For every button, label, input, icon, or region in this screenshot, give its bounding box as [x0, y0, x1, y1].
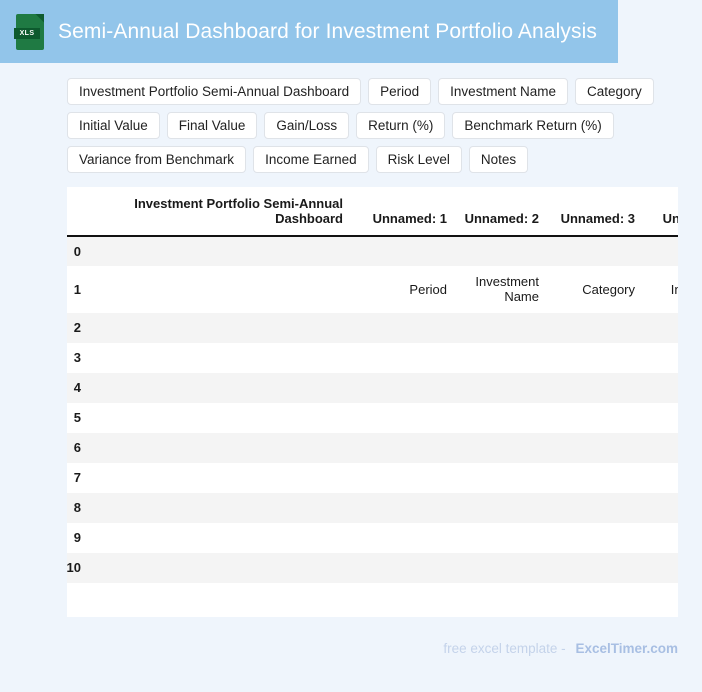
cell-unnamed-1 — [351, 553, 455, 583]
column-chip-list: Investment Portfolio Semi-Annual Dashboa… — [67, 78, 681, 180]
cell-unnamed-3 — [547, 493, 643, 523]
cell-unnamed-1 — [351, 313, 455, 343]
cell-unnamed-4 — [643, 373, 678, 403]
xls-file-icon: XLS — [16, 14, 44, 50]
row-index: 0 — [67, 236, 89, 266]
chip-row-3: Variance from Benchmark Income Earned Ri… — [67, 146, 681, 173]
cell-dashboard — [89, 523, 351, 553]
cell-unnamed-2 — [455, 343, 547, 373]
dataframe-table: Investment Portfolio Semi-Annual Dashboa… — [67, 187, 678, 583]
cell-unnamed-3 — [547, 343, 643, 373]
cell-unnamed-2 — [455, 313, 547, 343]
cell-dashboard — [89, 493, 351, 523]
cell-unnamed-2: Investment Name — [455, 266, 547, 313]
cell-unnamed-2 — [455, 493, 547, 523]
cell-unnamed-4 — [643, 493, 678, 523]
chip-risk-level[interactable]: Risk Level — [376, 146, 462, 173]
chip-variance-from-benchmark[interactable]: Variance from Benchmark — [67, 146, 246, 173]
chip-return-percent[interactable]: Return (%) — [356, 112, 445, 139]
table-row[interactable]: 5 — [67, 403, 678, 433]
chip-period[interactable]: Period — [368, 78, 431, 105]
chip-income-earned[interactable]: Income Earned — [253, 146, 369, 173]
row-index: 2 — [67, 313, 89, 343]
footer-attribution: free excel template - ExcelTimer.com — [443, 641, 678, 656]
cell-unnamed-4 — [643, 463, 678, 493]
column-header-index[interactable] — [67, 187, 89, 236]
column-header-unnamed-2[interactable]: Unnamed: 2 — [455, 187, 547, 236]
cell-dashboard — [89, 236, 351, 266]
footer-brand-link[interactable]: ExcelTimer.com — [575, 641, 678, 656]
table-row[interactable]: 9 — [67, 523, 678, 553]
table-body: 0 1 Period Investment Name Category Init… — [67, 236, 678, 583]
cell-unnamed-3 — [547, 463, 643, 493]
table-row[interactable]: 1 Period Investment Name Category Initia… — [67, 266, 678, 313]
cell-unnamed-3 — [547, 523, 643, 553]
table-row[interactable]: 0 — [67, 236, 678, 266]
row-index: 6 — [67, 433, 89, 463]
cell-unnamed-1: Period — [351, 266, 455, 313]
table-row[interactable]: 4 — [67, 373, 678, 403]
cell-unnamed-1 — [351, 343, 455, 373]
dataframe-table-container[interactable]: Investment Portfolio Semi-Annual Dashboa… — [67, 187, 678, 617]
chip-final-value[interactable]: Final Value — [167, 112, 258, 139]
chip-row-2: Initial Value Final Value Gain/Loss Retu… — [67, 112, 681, 139]
cell-unnamed-3 — [547, 373, 643, 403]
cell-dashboard — [89, 553, 351, 583]
chip-benchmark-return-percent[interactable]: Benchmark Return (%) — [452, 112, 613, 139]
table-row[interactable]: 7 — [67, 463, 678, 493]
cell-unnamed-4 — [643, 433, 678, 463]
table-row[interactable]: 6 — [67, 433, 678, 463]
chip-investment-name[interactable]: Investment Name — [438, 78, 568, 105]
cell-dashboard — [89, 313, 351, 343]
cell-unnamed-1 — [351, 523, 455, 553]
cell-unnamed-4 — [643, 553, 678, 583]
column-header-dashboard[interactable]: Investment Portfolio Semi-Annual Dashboa… — [89, 187, 351, 236]
cell-unnamed-4 — [643, 523, 678, 553]
cell-unnamed-3 — [547, 236, 643, 266]
chip-category[interactable]: Category — [575, 78, 654, 105]
row-index: 7 — [67, 463, 89, 493]
cell-unnamed-2 — [455, 463, 547, 493]
cell-unnamed-4 — [643, 313, 678, 343]
cell-unnamed-1 — [351, 493, 455, 523]
row-index: 10 — [67, 553, 89, 583]
table-header-row: Investment Portfolio Semi-Annual Dashboa… — [67, 187, 678, 236]
cell-unnamed-3 — [547, 313, 643, 343]
chip-notes[interactable]: Notes — [469, 146, 528, 173]
row-index: 3 — [67, 343, 89, 373]
row-index: 4 — [67, 373, 89, 403]
page-title: Semi-Annual Dashboard for Investment Por… — [58, 20, 597, 44]
footer-prefix-text: free excel template - — [443, 641, 565, 656]
row-index: 5 — [67, 403, 89, 433]
cell-unnamed-4 — [643, 236, 678, 266]
cell-unnamed-2 — [455, 236, 547, 266]
cell-unnamed-2 — [455, 373, 547, 403]
cell-unnamed-1 — [351, 373, 455, 403]
column-header-unnamed-1[interactable]: Unnamed: 1 — [351, 187, 455, 236]
row-index: 9 — [67, 523, 89, 553]
table-row[interactable]: 3 — [67, 343, 678, 373]
chip-gain-loss[interactable]: Gain/Loss — [264, 112, 349, 139]
cell-unnamed-1 — [351, 236, 455, 266]
app-header-bar: XLS Semi-Annual Dashboard for Investment… — [0, 0, 618, 63]
table-row[interactable]: 10 — [67, 553, 678, 583]
cell-unnamed-2 — [455, 403, 547, 433]
table-header: Investment Portfolio Semi-Annual Dashboa… — [67, 187, 678, 236]
cell-unnamed-4 — [643, 403, 678, 433]
cell-unnamed-3 — [547, 403, 643, 433]
cell-dashboard — [89, 343, 351, 373]
table-row[interactable]: 8 — [67, 493, 678, 523]
cell-unnamed-4: Initial Value — [643, 266, 678, 313]
cell-unnamed-1 — [351, 433, 455, 463]
xls-icon-label: XLS — [14, 28, 40, 39]
cell-unnamed-3 — [547, 553, 643, 583]
chip-investment-portfolio-semi-annual-dashboard[interactable]: Investment Portfolio Semi-Annual Dashboa… — [67, 78, 361, 105]
chip-initial-value[interactable]: Initial Value — [67, 112, 160, 139]
cell-unnamed-2 — [455, 553, 547, 583]
cell-unnamed-1 — [351, 403, 455, 433]
cell-dashboard — [89, 403, 351, 433]
cell-unnamed-2 — [455, 523, 547, 553]
cell-dashboard — [89, 433, 351, 463]
chip-row-1: Investment Portfolio Semi-Annual Dashboa… — [67, 78, 681, 105]
cell-dashboard — [89, 463, 351, 493]
row-index: 8 — [67, 493, 89, 523]
cell-unnamed-3 — [547, 433, 643, 463]
column-header-unnamed-4[interactable]: Unnamed: 4 — [643, 187, 678, 236]
column-header-unnamed-3[interactable]: Unnamed: 3 — [547, 187, 643, 236]
cell-unnamed-2 — [455, 433, 547, 463]
table-row[interactable]: 2 — [67, 313, 678, 343]
cell-dashboard — [89, 373, 351, 403]
cell-dashboard — [89, 266, 351, 313]
cell-unnamed-3: Category — [547, 266, 643, 313]
cell-unnamed-4 — [643, 343, 678, 373]
row-index: 1 — [67, 266, 89, 313]
cell-unnamed-1 — [351, 463, 455, 493]
